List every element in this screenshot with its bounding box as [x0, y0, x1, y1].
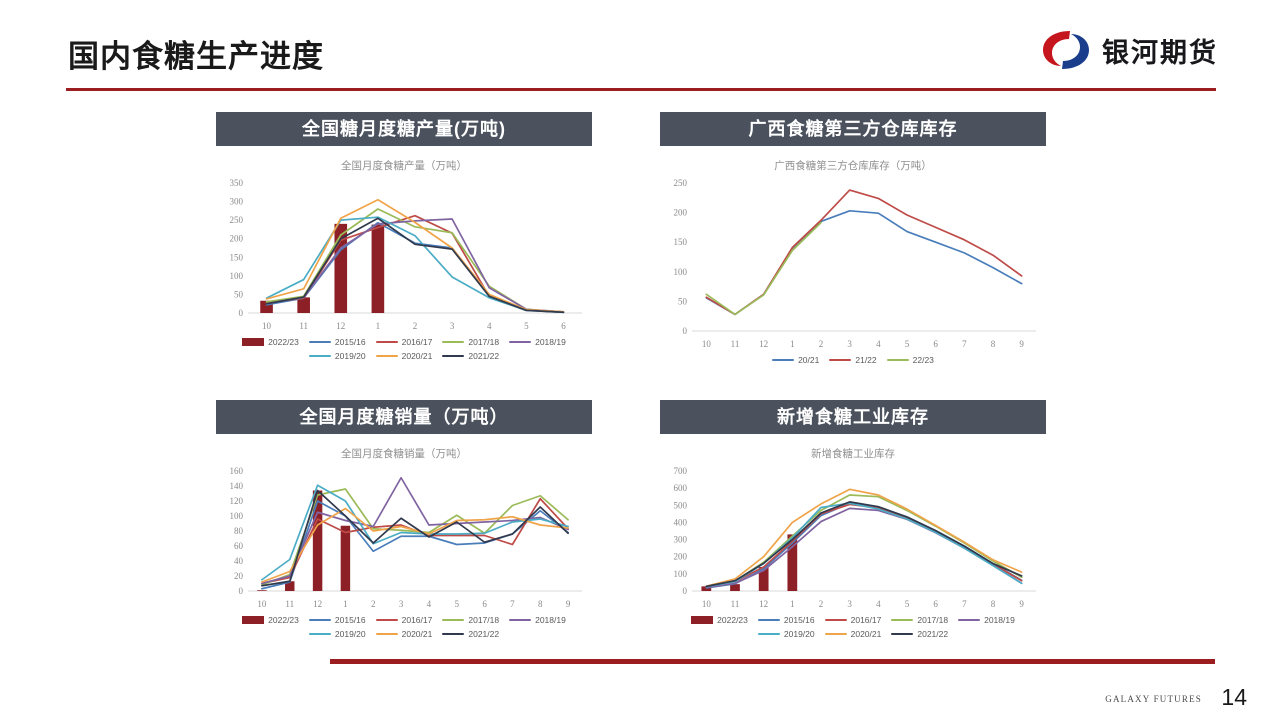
legend-item[interactable]: 2018/19	[958, 615, 1015, 625]
legend-label: 2015/16	[335, 615, 366, 625]
legend-item[interactable]: 2016/17	[825, 615, 882, 625]
legend-swatch	[891, 619, 913, 622]
galaxy-swirl-icon	[1040, 28, 1092, 72]
legend-swatch	[242, 338, 264, 346]
legend-item[interactable]: 2017/18	[442, 337, 499, 347]
svg-text:4: 4	[876, 339, 881, 349]
legend-swatch	[309, 341, 331, 344]
svg-text:12: 12	[336, 321, 345, 331]
svg-text:7: 7	[962, 339, 967, 349]
legend-item[interactable]: 2020/21	[376, 351, 433, 361]
chart-national-monthly-sugar-output: 050100150200250300350101112123456	[218, 175, 590, 335]
legend-swatch	[376, 341, 398, 344]
legend-item[interactable]: 21/22	[829, 355, 876, 365]
panel-national-monthly-sugar-sales: 全国月度糖销量（万吨） 全国月度食糖销量（万吨） 020406080100120…	[216, 400, 592, 639]
svg-text:11: 11	[731, 599, 740, 609]
svg-text:10: 10	[702, 599, 712, 609]
chart-legend: 2022/232015/162016/172017/182018/192019/…	[216, 337, 592, 361]
svg-text:0: 0	[239, 586, 244, 596]
svg-text:250: 250	[230, 215, 244, 225]
svg-text:150: 150	[230, 252, 244, 262]
legend-label: 2019/20	[335, 629, 366, 639]
svg-text:200: 200	[674, 208, 688, 218]
legend-item[interactable]: 2022/23	[691, 615, 748, 625]
legend-item[interactable]: 2016/17	[376, 615, 433, 625]
chart-new-industrial-sugar-inventory: 0100200300400500600700101112123456789	[662, 463, 1044, 613]
legend-label: 2016/17	[402, 615, 433, 625]
svg-text:0: 0	[239, 308, 244, 318]
legend-swatch	[758, 633, 780, 636]
chart-legend: 2022/232015/162016/172017/182018/192019/…	[660, 615, 1046, 639]
svg-text:250: 250	[674, 178, 688, 188]
legend-label: 2015/16	[335, 337, 366, 347]
svg-text:400: 400	[674, 517, 688, 527]
legend-label: 2019/20	[784, 629, 815, 639]
panel-guangxi-third-party-warehouse-stock: 广西食糖第三方仓库库存 广西食糖第三方仓库库存（万吨） 050100150200…	[660, 112, 1046, 365]
legend-item[interactable]: 22/23	[887, 355, 934, 365]
legend-swatch	[509, 341, 531, 344]
legend-item[interactable]: 2020/21	[825, 629, 882, 639]
page-title: 国内食糖生产进度	[68, 31, 324, 76]
svg-text:120: 120	[230, 496, 244, 506]
svg-text:11: 11	[299, 321, 308, 331]
svg-text:1: 1	[343, 599, 348, 609]
legend-swatch	[242, 616, 264, 624]
svg-text:20: 20	[234, 571, 244, 581]
svg-text:10: 10	[702, 339, 712, 349]
svg-text:0: 0	[683, 326, 688, 336]
legend-item[interactable]: 2022/23	[242, 337, 299, 347]
chart-guangxi-third-party-warehouse-stock: 050100150200250101112123456789	[662, 175, 1044, 353]
svg-text:500: 500	[674, 500, 688, 510]
panel-body: 新增食糖工业库存 0100200300400500600700101112123…	[660, 446, 1046, 639]
legend-item[interactable]: 2021/22	[442, 351, 499, 361]
svg-text:12: 12	[759, 599, 768, 609]
svg-text:40: 40	[234, 556, 244, 566]
svg-text:1: 1	[376, 321, 381, 331]
legend-item[interactable]: 2019/20	[309, 351, 366, 361]
svg-text:6: 6	[933, 599, 938, 609]
page-number: 14	[1221, 684, 1247, 711]
svg-text:3: 3	[450, 321, 455, 331]
svg-text:300: 300	[674, 535, 688, 545]
svg-text:5: 5	[905, 599, 910, 609]
legend-label: 20/21	[798, 355, 819, 365]
svg-text:8: 8	[991, 339, 996, 349]
chart-subtitle: 新增食糖工业库存	[660, 446, 1046, 461]
svg-text:100: 100	[674, 267, 688, 277]
legend-item[interactable]: 20/21	[772, 355, 819, 365]
svg-text:3: 3	[399, 599, 404, 609]
svg-text:50: 50	[234, 289, 244, 299]
svg-text:80: 80	[234, 526, 244, 536]
svg-text:200: 200	[230, 234, 244, 244]
legend-item[interactable]: 2021/22	[442, 629, 499, 639]
legend-swatch	[958, 619, 980, 622]
svg-text:2: 2	[819, 339, 824, 349]
chart-subtitle: 全国月度食糖销量（万吨）	[216, 446, 592, 461]
logo-text: 银河期货	[1102, 31, 1218, 70]
panel-title: 全国月度糖销量（万吨）	[216, 400, 592, 434]
legend-label: 2022/23	[268, 337, 299, 347]
legend-swatch	[442, 619, 464, 622]
legend-label: 2021/22	[917, 629, 948, 639]
svg-text:9: 9	[566, 599, 571, 609]
svg-text:700: 700	[674, 466, 688, 476]
legend-swatch	[309, 633, 331, 636]
legend-item[interactable]: 2018/19	[509, 615, 566, 625]
svg-text:12: 12	[313, 599, 322, 609]
chart-legend: 2022/232015/162016/172017/182018/192019/…	[216, 615, 592, 639]
svg-text:100: 100	[230, 271, 244, 281]
legend-label: 2018/19	[984, 615, 1015, 625]
legend-swatch	[309, 355, 331, 358]
legend-label: 2018/19	[535, 615, 566, 625]
svg-text:3: 3	[847, 599, 852, 609]
legend-label: 2017/18	[468, 615, 499, 625]
svg-text:2: 2	[371, 599, 376, 609]
svg-text:4: 4	[876, 599, 881, 609]
legend-label: 2022/23	[717, 615, 748, 625]
svg-text:2: 2	[413, 321, 418, 331]
svg-text:1: 1	[790, 599, 795, 609]
svg-text:5: 5	[905, 339, 910, 349]
svg-text:7: 7	[962, 599, 967, 609]
legend-swatch	[442, 341, 464, 344]
svg-text:9: 9	[1019, 599, 1024, 609]
legend-label: 2018/19	[535, 337, 566, 347]
svg-text:0: 0	[683, 586, 688, 596]
legend-swatch	[758, 619, 780, 622]
svg-text:300: 300	[230, 197, 244, 207]
panel-title: 广西食糖第三方仓库库存	[660, 112, 1046, 146]
svg-text:2: 2	[819, 599, 824, 609]
footer-divider	[330, 659, 1215, 664]
svg-text:7: 7	[510, 599, 515, 609]
svg-text:9: 9	[1019, 339, 1024, 349]
legend-swatch	[509, 619, 531, 622]
svg-text:60: 60	[234, 541, 244, 551]
panel-national-monthly-sugar-output: 全国糖月度糖产量(万吨) 全国月度食糖产量（万吨） 05010015020025…	[216, 112, 592, 361]
svg-text:50: 50	[678, 296, 688, 306]
title-divider	[66, 88, 1216, 91]
svg-text:100: 100	[674, 569, 688, 579]
legend-swatch	[376, 355, 398, 358]
svg-text:11: 11	[285, 599, 294, 609]
svg-text:4: 4	[487, 321, 492, 331]
svg-text:11: 11	[731, 339, 740, 349]
legend-swatch	[376, 619, 398, 622]
chart-subtitle: 广西食糖第三方仓库库存（万吨）	[660, 158, 1046, 173]
svg-text:140: 140	[230, 481, 244, 491]
svg-text:160: 160	[230, 466, 244, 476]
legend-swatch	[309, 619, 331, 622]
legend-swatch	[376, 633, 398, 636]
legend-swatch	[772, 359, 794, 362]
legend-label: 2017/18	[468, 337, 499, 347]
chart-national-monthly-sugar-sales: 020406080100120140160101112123456789	[218, 463, 590, 613]
legend-swatch	[442, 355, 464, 358]
panel-body: 全国月度食糖销量（万吨） 020406080100120140160101112…	[216, 446, 592, 639]
legend-item[interactable]: 2021/22	[891, 629, 948, 639]
company-logo: 银河期货	[1040, 28, 1218, 72]
legend-item[interactable]: 2017/18	[891, 615, 948, 625]
legend-item[interactable]: 2018/19	[509, 337, 566, 347]
svg-text:10: 10	[257, 599, 267, 609]
legend-label: 2022/23	[268, 615, 299, 625]
legend-swatch	[891, 633, 913, 636]
legend-label: 22/23	[913, 355, 934, 365]
svg-text:200: 200	[674, 552, 688, 562]
legend-label: 2020/21	[851, 629, 882, 639]
svg-text:1: 1	[790, 339, 795, 349]
slide-root: 国内食糖生产进度 银河期货 全国糖月度糖产量(万吨) 全国月度食糖产量（万吨） …	[0, 0, 1280, 720]
legend-label: 2016/17	[851, 615, 882, 625]
panel-title: 全国糖月度糖产量(万吨)	[216, 112, 592, 146]
panel-new-industrial-sugar-inventory: 新增食糖工业库存 新增食糖工业库存 0100200300400500600700…	[660, 400, 1046, 639]
svg-text:8: 8	[991, 599, 996, 609]
svg-text:100: 100	[230, 511, 244, 521]
svg-text:8: 8	[538, 599, 543, 609]
legend-label: 2021/22	[468, 629, 499, 639]
svg-text:350: 350	[230, 178, 244, 188]
legend-label: 21/22	[855, 355, 876, 365]
legend-swatch	[442, 633, 464, 636]
chart-legend: 20/2121/2222/23	[689, 355, 1017, 365]
svg-text:600: 600	[674, 483, 688, 493]
legend-swatch	[691, 616, 713, 624]
svg-text:6: 6	[482, 599, 487, 609]
legend-item[interactable]: 2019/20	[309, 629, 366, 639]
legend-item[interactable]: 2015/16	[758, 615, 815, 625]
svg-text:5: 5	[455, 599, 460, 609]
svg-text:150: 150	[674, 237, 688, 247]
svg-text:3: 3	[847, 339, 852, 349]
legend-swatch	[825, 633, 847, 636]
legend-swatch	[825, 619, 847, 622]
legend-item[interactable]: 2019/20	[758, 629, 815, 639]
panel-title: 新增食糖工业库存	[660, 400, 1046, 434]
legend-label: 2016/17	[402, 337, 433, 347]
chart-subtitle: 全国月度食糖产量（万吨）	[216, 158, 592, 173]
svg-text:4: 4	[427, 599, 432, 609]
legend-item[interactable]: 2017/18	[442, 615, 499, 625]
svg-text:6: 6	[933, 339, 938, 349]
legend-label: 2019/20	[335, 351, 366, 361]
legend-item[interactable]: 2015/16	[309, 615, 366, 625]
legend-swatch	[887, 359, 909, 362]
panel-body: 广西食糖第三方仓库库存（万吨） 050100150200250101112123…	[660, 158, 1046, 365]
svg-text:5: 5	[524, 321, 529, 331]
svg-text:6: 6	[561, 321, 566, 331]
legend-label: 2021/22	[468, 351, 499, 361]
legend-swatch	[829, 359, 851, 362]
legend-label: 2017/18	[917, 615, 948, 625]
legend-label: 2015/16	[784, 615, 815, 625]
legend-item[interactable]: 2015/16	[309, 337, 366, 347]
legend-item[interactable]: 2022/23	[242, 615, 299, 625]
legend-label: 2020/21	[402, 351, 433, 361]
legend-item[interactable]: 2020/21	[376, 629, 433, 639]
panel-body: 全国月度食糖产量（万吨） 050100150200250300350101112…	[216, 158, 592, 361]
legend-item[interactable]: 2016/17	[376, 337, 433, 347]
footer-brand: GALAXY FUTURES	[1105, 694, 1202, 704]
svg-text:10: 10	[262, 321, 272, 331]
svg-text:12: 12	[759, 339, 768, 349]
legend-label: 2020/21	[402, 629, 433, 639]
